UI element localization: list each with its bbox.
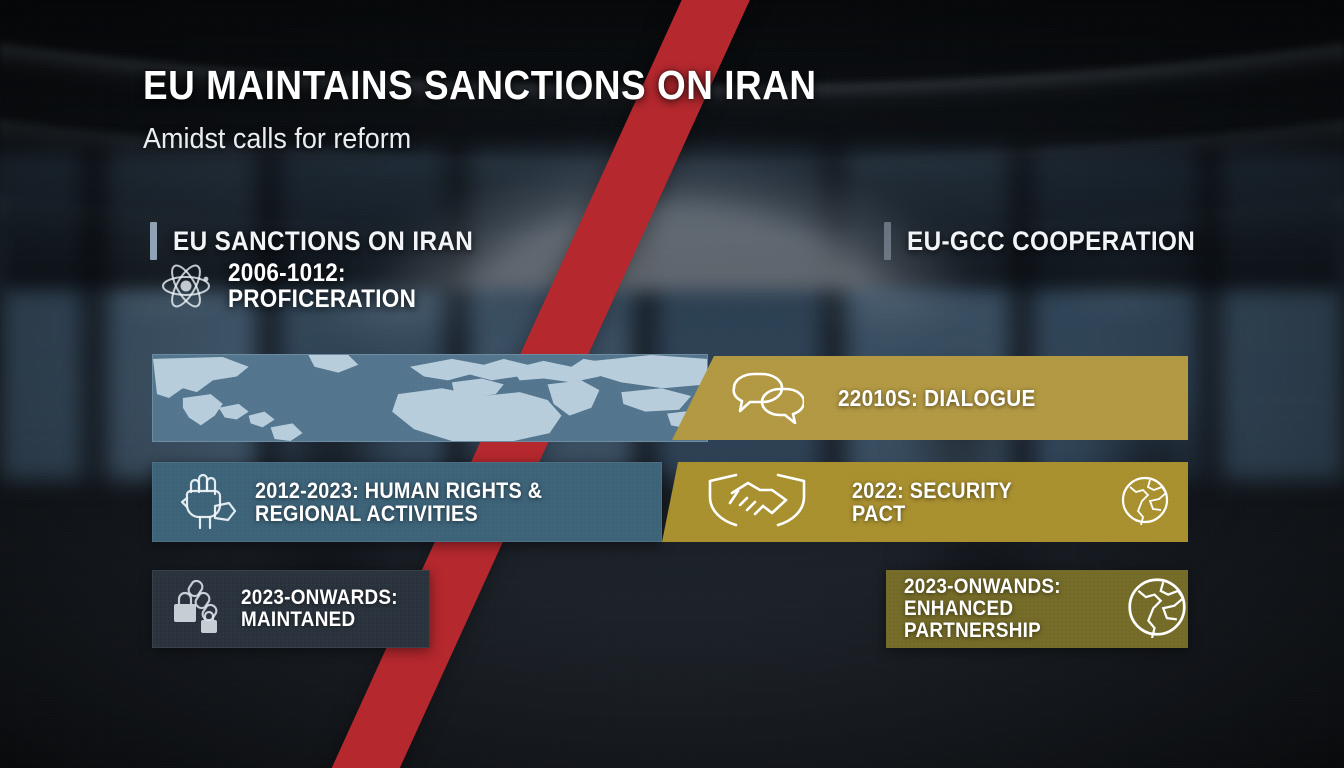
infographic-canvas: EU MAINTAINS SANCTIONS ON IRAN Amidst ca… xyxy=(0,0,1344,768)
column-title-left: EU SANCTIONS ON IRAN xyxy=(173,226,473,257)
timeline-label-security-pact: 2022: SECURITY PACT xyxy=(852,479,1066,526)
chain-lock-icon xyxy=(169,576,227,643)
timeline-item-proliferation: 2006-1012: PROFICERATION xyxy=(158,258,437,314)
column-title-right: EU-GCC COOPERATION xyxy=(907,226,1195,257)
timeline-card-maintained: 2023-ONWARDS: MAINTANED xyxy=(152,570,430,648)
accent-bar-right xyxy=(884,222,891,260)
atom-icon xyxy=(158,258,214,314)
timeline-label-maintained: 2023-ONWARDS: MAINTANED xyxy=(241,587,398,632)
timeline-bar-security-pact: 2022: SECURITY PACT xyxy=(662,462,1188,542)
timeline-label-proliferation: 2006-1012: PROFICERATION xyxy=(228,260,416,313)
speech-bubbles-icon xyxy=(728,368,804,429)
timeline-label-human-rights: 2012-2023: HUMAN RIGHTS & REGIONAL ACTIV… xyxy=(255,479,542,526)
shield-handshake-icon xyxy=(702,471,822,534)
column-header-left: EU SANCTIONS ON IRAN xyxy=(150,222,507,260)
timeline-label-enhanced-partnership: 2023-ONWANDS: ENHANCED PARTNERSHIP xyxy=(904,576,1095,643)
world-map-band xyxy=(152,354,708,442)
globe-icon xyxy=(1126,576,1188,643)
column-header-right: EU-GCC COOPERATION xyxy=(884,222,1227,260)
headline-block: EU MAINTAINS SANCTIONS ON IRAN Amidst ca… xyxy=(143,62,891,156)
timeline-bar-dialogue: 22010s: DIALOGUE xyxy=(672,356,1188,440)
timeline-label-dialogue: 22010s: DIALOGUE xyxy=(838,386,1036,410)
timeline-bar-enhanced-partnership: 2023-ONWANDS: ENHANCED PARTNERSHIP xyxy=(886,570,1188,648)
world-map-icon xyxy=(153,355,707,441)
timeline-bar-human-rights: 2012-2023: HUMAN RIGHTS & REGIONAL ACTIV… xyxy=(152,462,662,542)
page-title: EU MAINTAINS SANCTIONS ON IRAN xyxy=(143,62,817,109)
page-subtitle: Amidst calls for reform xyxy=(143,123,839,156)
accent-bar-left xyxy=(150,222,157,260)
globe-icon xyxy=(1120,475,1170,530)
raised-fist-icon xyxy=(175,470,237,535)
